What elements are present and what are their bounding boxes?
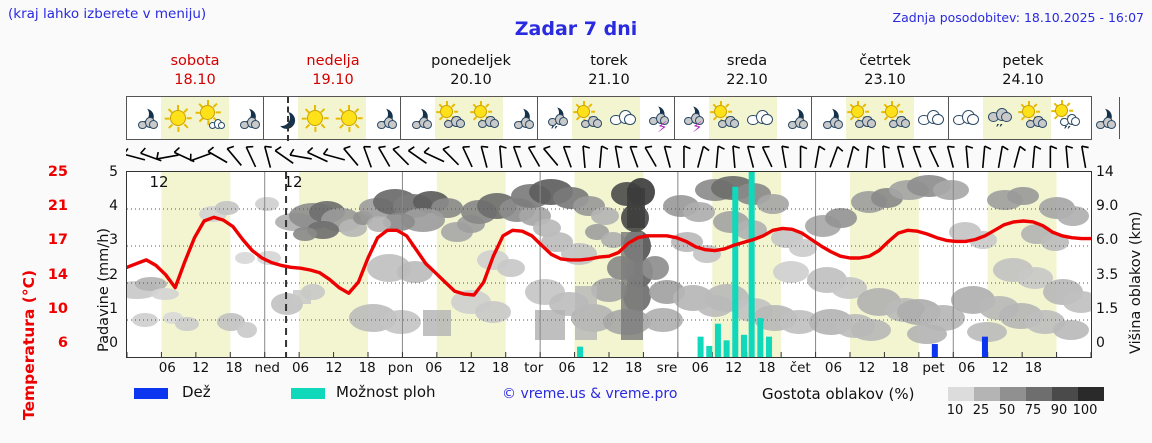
wind-barb-shaft — [966, 146, 968, 168]
wind-barb-feather — [126, 149, 128, 155]
cloud-slab — [575, 286, 597, 340]
day-date: 19.10 — [264, 71, 402, 90]
time-label: sre — [657, 360, 678, 376]
wind-barb-feather — [819, 146, 825, 150]
wind-barb-feather — [883, 146, 890, 148]
cloud-blob — [293, 227, 317, 241]
cloud-blob — [175, 317, 199, 331]
time-label: tor — [524, 360, 543, 376]
cloud-blob — [591, 207, 619, 225]
wind-barb-shaft — [246, 147, 255, 167]
wind-barb-shaft — [463, 147, 472, 167]
wind-barb-feather — [1082, 146, 1089, 147]
axis-tick: 25 — [34, 164, 68, 180]
daylight-band — [299, 172, 368, 357]
weather-icon-cell: ⚡ — [675, 97, 709, 139]
wind-barb-feather — [481, 146, 488, 147]
weather-icon-cell: ′′ — [538, 97, 572, 139]
sun-icon — [298, 101, 332, 135]
weather-icon-strip: ′′⚡⚡′′′′ — [126, 96, 1092, 140]
day-icons-1 — [264, 97, 401, 139]
wind-barb-shaft — [265, 146, 271, 167]
time-label: pon — [388, 360, 413, 376]
day-name: nedelja — [264, 52, 402, 71]
sun-icon — [161, 101, 195, 135]
cloud-blob — [825, 208, 857, 228]
wind-barb-shaft — [913, 147, 921, 168]
moon-cloud-storm-icon: ⚡ — [640, 101, 674, 135]
wind-barb-feather — [157, 152, 158, 159]
axis-tick: 21 — [34, 198, 68, 214]
sun-cloud-small-icon — [195, 101, 229, 135]
wind-barb-feather — [583, 146, 590, 148]
axis-tick: 4 — [98, 198, 118, 214]
wind-barb-shaft — [815, 146, 819, 168]
weather-icon-cell — [846, 97, 880, 139]
wind-barb-feather — [1035, 146, 1041, 149]
wind-barb-shaft — [583, 146, 585, 168]
wind-barb-shaft — [929, 147, 938, 167]
sun-cloud-icon — [709, 101, 743, 135]
wind-barb-shaft — [500, 146, 502, 168]
wind-barb-feather — [393, 146, 399, 149]
axis-tick: 14 — [1096, 164, 1124, 180]
lightning-icon: ⚡ — [657, 120, 668, 135]
weather-icon-cell — [743, 97, 777, 139]
wind-barb-shaft — [529, 147, 540, 166]
wind-barb-shaft — [983, 146, 985, 168]
wind-barb-shaft — [866, 146, 868, 168]
wind-barb-shaft — [344, 149, 358, 166]
cloud-blob — [151, 288, 179, 300]
raindrops-icon: ′′ — [1064, 126, 1071, 139]
weather-icon-cell: ⚡ — [640, 97, 674, 139]
wind-barb-feather — [853, 146, 859, 150]
wind-barb-shaft — [763, 147, 772, 167]
day-icons-2 — [401, 97, 538, 139]
day-date: 21.10 — [540, 71, 678, 90]
day-icons-4: ⚡ — [675, 97, 812, 139]
wind-barb-shaft — [227, 149, 241, 166]
wind-barb-feather — [424, 148, 429, 153]
moon-cloud-icon — [1085, 101, 1119, 135]
cloud-blob — [475, 301, 511, 323]
wind-barb-feather — [733, 146, 740, 148]
wind-barb-feather — [1066, 146, 1073, 148]
precipitation-bar — [757, 318, 763, 357]
wind-barb-feather — [718, 146, 724, 149]
wind-barb-shaft — [191, 153, 212, 161]
cloud-blob — [1057, 206, 1089, 226]
wind-barb-feather — [290, 149, 294, 155]
time-label: 06 — [692, 360, 709, 376]
day-icons-5 — [812, 97, 949, 139]
chart-legend: Dež Možnost ploh © vreme.us & vreme.pro … — [126, 386, 1140, 426]
time-label: 18 — [758, 360, 775, 376]
cloud-height-axis-title: Višina oblakov (km) — [1124, 178, 1148, 358]
wind-barb-shaft — [408, 151, 426, 164]
moon-cloud-storm-icon: ⚡ — [675, 101, 709, 135]
axis-tick: 14 — [34, 267, 68, 283]
wind-barb-shaft — [998, 146, 1002, 168]
weather-icon-cell: ′′ — [983, 97, 1017, 139]
sun-cloud-icon — [846, 101, 880, 135]
wind-barb-feather — [782, 146, 789, 147]
cloud-density-legend-title: Gostota oblakov (%) — [762, 385, 915, 403]
wind-barb-feather — [948, 146, 955, 147]
time-label: 18 — [359, 360, 376, 376]
weather-icon-cell — [914, 97, 948, 139]
wind-barb-feather — [500, 146, 507, 148]
wind-barb-feather — [898, 146, 905, 147]
wind-barb-shaft — [615, 146, 619, 168]
weather-icon-cell — [401, 97, 435, 139]
wind-barb-shaft — [782, 146, 786, 168]
cloud-blob — [907, 324, 947, 344]
cloud-density-ramp-label: 10 — [942, 403, 968, 418]
cloud-slab — [535, 310, 565, 340]
cloud-density-ramp-label: 25 — [968, 403, 994, 418]
cloud-blob — [1053, 320, 1089, 340]
cloud-density-ramp-cell — [1052, 387, 1078, 401]
day-name: sobota — [126, 52, 264, 71]
sun-icon — [170, 110, 186, 126]
wind-barb-feather — [602, 146, 608, 149]
wind-barb-shaft — [848, 146, 854, 167]
cloud-density-ramp-labels: 1025507590100 — [942, 403, 1098, 418]
precipitation-bar — [749, 172, 755, 357]
wind-barb-svg — [126, 141, 1092, 171]
cloud-blob — [215, 201, 239, 215]
axis-tick: 3.5 — [1096, 267, 1124, 283]
cloud-blob — [933, 180, 969, 200]
time-label: čet — [790, 360, 811, 376]
wind-barb-shaft — [830, 147, 838, 168]
weather-icon-cell — [264, 97, 298, 139]
wind-barb-feather — [1020, 146, 1026, 150]
time-label: 18 — [625, 360, 642, 376]
cloud-density-ramp-cell — [1078, 387, 1104, 401]
weather-icon-cell — [503, 97, 537, 139]
day-name: četrtek — [816, 52, 954, 71]
wind-barb-shaft — [481, 146, 487, 167]
wind-barb-shaft — [1082, 146, 1086, 168]
cloud-blob — [757, 194, 789, 214]
cloud-blob — [851, 319, 891, 341]
precipitation-bar — [577, 347, 583, 357]
sun-icon — [307, 110, 323, 126]
wind-barb-shaft — [364, 147, 372, 168]
wind-barb-feather — [966, 146, 973, 148]
day-name: sreda — [678, 52, 816, 71]
day-name: torek — [540, 52, 678, 71]
precipitation-bar — [706, 346, 712, 357]
time-label: 06 — [558, 360, 575, 376]
axis-tick: 1.5 — [1096, 301, 1124, 317]
wind-barb-feather — [379, 146, 386, 147]
weather-icon-cell — [1085, 97, 1119, 139]
weather-icon-cell: ′′ — [1051, 97, 1085, 139]
wind-barb-feather — [748, 146, 755, 147]
axis-tick: 10 — [34, 301, 68, 317]
wind-barb-shaft — [424, 152, 444, 161]
day-header-3: torek21.10 — [540, 52, 678, 92]
day-headers-row: sobota18.10nedelja19.10ponedeljek20.10to… — [126, 52, 1092, 92]
day-name: ponedeljek — [402, 52, 540, 71]
time-axis-labels: 061218ned061218pon061218tor061218sre0612… — [126, 360, 1092, 380]
temperature-point-label: 12 — [149, 173, 168, 191]
axis-tick: 6.0 — [1096, 232, 1124, 248]
day-header-4: sreda22.10 — [678, 52, 816, 92]
time-label: 18 — [1025, 360, 1042, 376]
weather-icon-cell — [195, 97, 229, 139]
cloud-rain-icon: ′′ — [983, 101, 1017, 135]
showers-legend-label: Možnost ploh — [336, 383, 436, 401]
time-label: 06 — [825, 360, 842, 376]
cloud-white-icon — [914, 101, 948, 135]
axis-tick: 5 — [98, 164, 118, 180]
moon-cloud-icon — [366, 101, 400, 135]
wind-barb-shaft — [1066, 146, 1068, 168]
precipitation-bar — [698, 337, 704, 357]
cloud-blob — [237, 322, 257, 338]
wind-barb-feather — [308, 148, 313, 153]
cloud-icon — [606, 101, 640, 135]
wind-barb-feather — [275, 147, 281, 151]
moon-cloud-rain-icon: ′′ — [538, 101, 572, 135]
wind-barb-feather — [615, 146, 622, 147]
time-label: 12 — [991, 360, 1008, 376]
sun-cloud-icon — [1017, 101, 1051, 135]
day-header-5: četrtek23.10 — [816, 52, 954, 92]
weather-icon-cell — [777, 97, 811, 139]
cloud-density-ramp-cell — [974, 387, 1000, 401]
wind-barb-feather — [544, 146, 551, 148]
weather-icon-cell — [606, 97, 640, 139]
time-label: 06 — [159, 360, 176, 376]
wind-barb-shaft — [716, 146, 718, 168]
wind-barb-feather — [801, 146, 808, 149]
weather-icon-cell — [469, 97, 503, 139]
time-label: 12 — [858, 360, 875, 376]
cloud-density-ramp-label: 50 — [994, 403, 1020, 418]
weather-icon-cell — [880, 97, 914, 139]
wind-barb-feather — [985, 146, 991, 149]
cloud-blob — [683, 202, 715, 222]
time-label: 12 — [459, 360, 476, 376]
wind-barb-shaft — [1014, 146, 1020, 167]
wind-barb-feather — [208, 147, 213, 151]
wind-barb-shaft — [748, 146, 754, 167]
moon-icon — [264, 101, 298, 135]
weather-icon-cell — [366, 97, 400, 139]
wind-barb-shaft — [544, 149, 558, 166]
weather-icon-cell — [161, 97, 195, 139]
weather-icon-cell — [127, 97, 161, 139]
wind-barb-feather — [664, 146, 671, 147]
precipitation-bar — [741, 335, 747, 357]
precipitation-bar — [715, 324, 721, 357]
rain-legend-label: Dež — [182, 383, 211, 401]
cloud-density-ramp-cell — [1026, 387, 1052, 401]
weather-icon-cell — [812, 97, 846, 139]
wind-barb-feather — [141, 148, 146, 153]
sun-cloud-icon — [572, 101, 606, 135]
precipitation-bar — [732, 187, 738, 357]
wind-barb-shaft — [645, 147, 656, 166]
weather-icon-cell — [298, 97, 332, 139]
wind-barb-shaft — [514, 147, 522, 168]
sun-icon — [341, 110, 357, 126]
raindrops-icon: ′′ — [551, 126, 558, 139]
wind-barb-feather — [443, 146, 449, 149]
axis-tick: 9.0 — [1096, 198, 1124, 214]
cloud-blob — [497, 259, 525, 277]
daylight-band — [161, 172, 230, 357]
time-label: 06 — [425, 360, 442, 376]
precipitation-bar — [724, 340, 730, 357]
wind-barb-shaft — [443, 149, 459, 165]
cloud-blob — [641, 256, 669, 280]
moon-cloud-icon — [503, 101, 537, 135]
precipitation-bar — [766, 337, 772, 357]
wind-barb-shaft — [883, 146, 885, 168]
day-header-1: nedelja19.10 — [264, 52, 402, 92]
copyright-text: © vreme.us & vreme.pro — [502, 386, 677, 402]
time-label: ned — [255, 360, 280, 376]
forecast-plot: 132012191219161817191619182018 — [126, 171, 1092, 358]
day-header-0: sobota18.10 — [126, 52, 264, 92]
cloud-blob — [381, 310, 421, 334]
lightning-icon: ⚡ — [692, 120, 703, 135]
axis-tick: 0 — [98, 335, 118, 351]
showers-legend-swatch — [291, 388, 325, 399]
day-icons-3: ′′⚡ — [538, 97, 675, 139]
wind-barb-feather — [1050, 146, 1057, 149]
cloud-density-ramp-label: 90 — [1046, 403, 1072, 418]
weather-icon-cell — [1017, 97, 1051, 139]
weather-icon-cell — [229, 97, 263, 139]
wind-barb-shaft — [275, 151, 293, 164]
time-label: 12 — [192, 360, 209, 376]
time-label: 18 — [892, 360, 909, 376]
sun-icon — [200, 105, 215, 120]
precipitation-bar — [982, 337, 988, 357]
now-marker-line-icons — [287, 97, 289, 141]
weather-icon-cell — [435, 97, 469, 139]
weather-icon-cell — [709, 97, 743, 139]
wind-barb-shaft — [290, 155, 312, 159]
wind-barb-shaft — [324, 154, 345, 160]
time-label: pet — [922, 360, 944, 376]
cloud-density-color-ramp — [948, 387, 1104, 401]
wind-barb-shaft — [664, 146, 670, 167]
day-header-2: ponedeljek20.10 — [402, 52, 540, 92]
axis-tick: 0 — [1096, 335, 1124, 351]
precipitation-bar — [932, 344, 938, 357]
forecast-plot-svg: 132012191219161817191619182018 — [127, 172, 1091, 357]
day-date: 23.10 — [816, 71, 954, 90]
wind-barb-shaft — [1033, 146, 1035, 168]
axis-tick: 1 — [98, 301, 118, 317]
wind-barb-shaft — [898, 146, 904, 167]
wind-barb-shaft — [126, 154, 145, 160]
sun-cloud-icon — [435, 101, 469, 135]
temperature-axis-title: Temperatura (°C) — [8, 180, 32, 355]
wind-barb-shaft — [630, 147, 638, 168]
last-update-text: Zadnja posodobitev: 18.10.2025 - 16:07 — [893, 10, 1144, 25]
wind-barb-feather — [703, 146, 709, 150]
cloud-height-axis-title-label: Višina oblakov (km) — [1128, 211, 1144, 354]
day-icons-0 — [127, 97, 264, 139]
wind-barb-feather — [645, 146, 652, 147]
wind-barb-shaft — [600, 146, 602, 168]
cloud-slab — [293, 290, 311, 304]
day-date: 22.10 — [678, 71, 816, 90]
time-label: 18 — [492, 360, 509, 376]
cloud-density-ramp-cell — [948, 387, 974, 401]
weather-icon-cell — [572, 97, 606, 139]
rain-legend-swatch — [134, 388, 168, 399]
wind-barb-shaft — [208, 152, 227, 163]
moon-cloud-icon — [127, 101, 161, 135]
wind-barb-feather — [408, 147, 414, 151]
day-icons-6: ′′′′ — [949, 97, 1120, 139]
wind-barb-feather — [838, 147, 843, 152]
time-label: 12 — [592, 360, 609, 376]
wind-barb-feather — [344, 146, 351, 148]
cloud-density-ramp-label: 75 — [1020, 403, 1046, 418]
wind-barb-feather — [324, 149, 328, 155]
wind-barb-shaft — [379, 147, 390, 166]
axis-tick: 17 — [34, 232, 68, 248]
day-date: 20.10 — [402, 71, 540, 90]
sun-cloud-icon — [469, 101, 503, 135]
moon-cloud-icon — [812, 101, 846, 135]
weather-icon-cell — [949, 97, 983, 139]
sun-cloud-icon — [880, 101, 914, 135]
wind-barb-shaft — [564, 147, 572, 168]
time-label: 12 — [325, 360, 342, 376]
wind-barb-shaft — [733, 146, 735, 168]
sun-icon — [332, 101, 366, 135]
wind-barb-shaft — [698, 146, 704, 167]
wind-barb-strip — [126, 141, 1092, 171]
wind-barb-feather — [227, 146, 234, 148]
time-label: 06 — [958, 360, 975, 376]
wind-barb-feather — [684, 146, 691, 149]
cloud-white-icon — [949, 101, 983, 135]
sun-cloud-rain-icon: ′′ — [1051, 101, 1085, 135]
moon-cloud-icon — [777, 101, 811, 135]
axis-tick: 3 — [98, 232, 118, 248]
wind-barb-shaft — [157, 155, 179, 159]
wind-barb-feather — [1002, 146, 1008, 150]
moon-cloud-icon — [229, 101, 263, 135]
wind-barb-shaft — [393, 149, 409, 165]
axis-tick: 2 — [98, 267, 118, 283]
raindrops-icon: ′′ — [996, 124, 1003, 137]
axis-tick: 6 — [34, 335, 68, 351]
day-header-6: petek24.10 — [954, 52, 1092, 92]
cloud-density-ramp-cell — [1000, 387, 1026, 401]
day-name: petek — [954, 52, 1092, 71]
day-date: 24.10 — [954, 71, 1092, 90]
time-label: 18 — [225, 360, 242, 376]
cloud-density-ramp-label: 100 — [1072, 403, 1098, 418]
time-label: 12 — [725, 360, 742, 376]
wind-barb-feather — [868, 146, 874, 149]
